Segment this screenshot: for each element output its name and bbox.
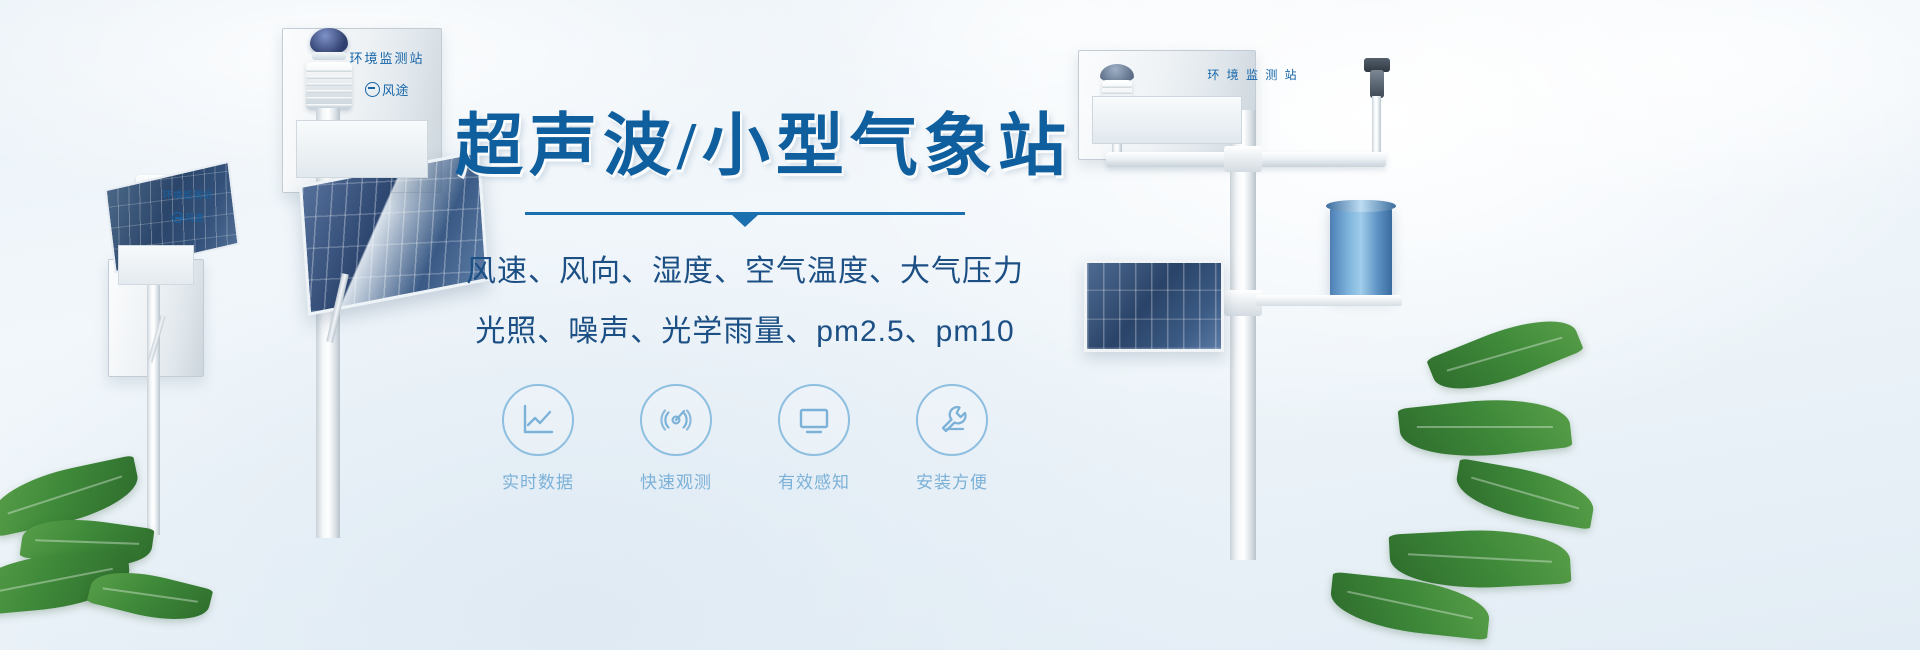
- banner-content: 超声波/小型气象站 风速、风向、湿度、空气温度、大气压力 光照、噪声、光学雨量、…: [455, 112, 1035, 493]
- radiation-shield-sensor-large: [306, 62, 352, 110]
- feature-item-easy-installation[interactable]: 安装方便: [902, 384, 1002, 493]
- title-divider: [525, 212, 965, 228]
- subtitle-line-1: 风速、风向、湿度、空气温度、大气压力: [455, 246, 1035, 290]
- feature-icon-circle: [502, 384, 574, 456]
- feature-icon-circle: [916, 384, 988, 456]
- feature-item-fast-observation[interactable]: 快速观测: [626, 384, 726, 493]
- center-mast-pole: [1230, 110, 1256, 560]
- cabinet-brand-text-large: 风途: [382, 80, 409, 99]
- weather-station-right: 环 境 监 测 站: [1078, 50, 1428, 560]
- wind-vane-cup: [1370, 70, 1384, 98]
- mast-collar: [1224, 146, 1262, 172]
- chevron-down-icon: [732, 215, 758, 227]
- cabinet-brand-logo-large: 风途: [365, 80, 409, 99]
- cabinet-label-text: 环境监测站: [163, 188, 213, 201]
- rain-gauge-shelf: [1256, 295, 1402, 306]
- anemometer-base: [312, 52, 346, 60]
- rain-gauge-sensor: [1330, 205, 1392, 297]
- leaf-icon: [1426, 304, 1584, 407]
- solar-panel-right: [1084, 260, 1224, 352]
- ultrasonic-anemometer: [310, 28, 348, 54]
- product-banner: 环境监测站 风途 环境监测站: [0, 0, 1920, 650]
- fengtu-logo-mark: [172, 212, 183, 223]
- line-chart-icon: [519, 401, 557, 439]
- feature-label: 有效感知: [764, 468, 864, 493]
- center-mast-foot: [1230, 538, 1256, 560]
- wrench-icon: [933, 401, 971, 439]
- fengtu-logo-mark-large: [365, 82, 380, 97]
- mast-foot: [316, 503, 340, 538]
- feature-icon-circle: [778, 384, 850, 456]
- radar-signal-icon: [657, 401, 695, 439]
- cabinet-brand-logo: 风途: [172, 211, 204, 224]
- cabinet-vent-panel: [296, 120, 428, 178]
- cabinet-front-panel-right: [1092, 96, 1242, 144]
- right-arm-riser: [1372, 96, 1381, 158]
- feature-list: 实时数据 快速观测: [455, 384, 1035, 493]
- page-title: 超声波/小型气象站: [455, 112, 1035, 180]
- feature-icon-circle: [640, 384, 712, 456]
- cabinet-door-seam: [118, 245, 194, 285]
- enclosure-cabinet-large: 环境监测站 风途: [282, 28, 442, 193]
- cabinet-label-text-right: 环 境 监 测 站: [1207, 66, 1298, 83]
- cabinet-label-text-large: 环境监测站: [349, 48, 424, 67]
- feature-item-effective-sensing[interactable]: 有效感知: [764, 384, 864, 493]
- rain-gauge-rim: [1326, 200, 1396, 212]
- cabinet-brand-text: 风途: [185, 211, 204, 224]
- feature-label: 安装方便: [902, 468, 1002, 493]
- feature-item-realtime-data[interactable]: 实时数据: [488, 384, 588, 493]
- leaf-icon: [1452, 458, 1598, 530]
- feature-label: 快速观测: [626, 468, 726, 493]
- subtitle-line-2: 光照、噪声、光学雨量、pm2.5、pm10: [455, 306, 1035, 350]
- monitor-icon: [795, 401, 833, 439]
- feature-label: 实时数据: [488, 468, 588, 493]
